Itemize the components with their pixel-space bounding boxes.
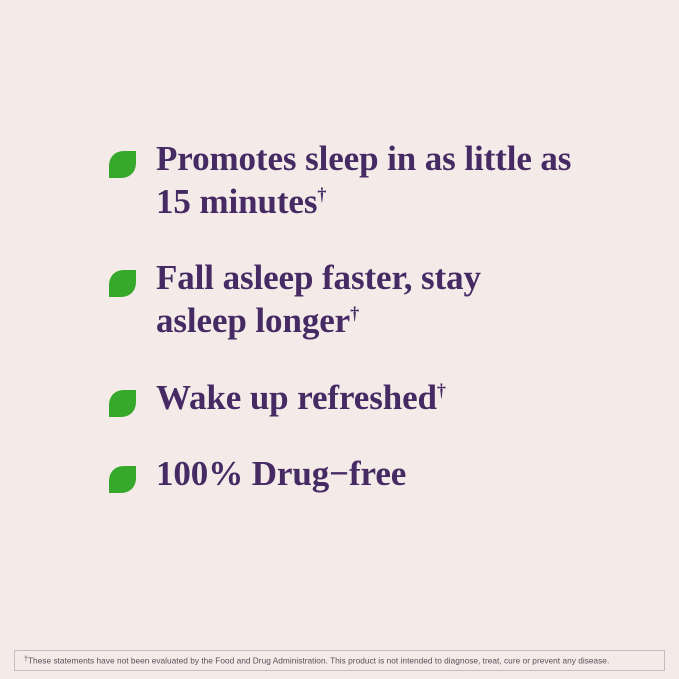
disclaimer-body: These statements have not been evaluated… <box>28 656 609 666</box>
benefits-list: Promotes sleep in as little as 15 minute… <box>108 138 628 496</box>
leaf-icon <box>108 269 137 298</box>
benefit-text: 100% Drug−free <box>156 453 406 496</box>
benefit-label: Fall asleep faster, stay asleep longer <box>156 258 481 340</box>
benefit-label: Wake up refreshed <box>156 378 437 417</box>
disclaimer-text: †These statements have not been evaluate… <box>24 656 609 665</box>
benefit-label: 100% Drug−free <box>156 454 406 493</box>
footnote-marker: † <box>437 380 446 400</box>
list-item: Promotes sleep in as little as 15 minute… <box>108 138 628 223</box>
list-item: Fall asleep faster, stay asleep longer† <box>108 257 628 342</box>
list-item: 100% Drug−free <box>108 453 628 496</box>
list-item: Wake up refreshed† <box>108 377 628 420</box>
benefit-label: Promotes sleep in as little as 15 minute… <box>156 139 571 221</box>
leaf-icon <box>108 389 137 418</box>
benefit-text: Fall asleep faster, stay asleep longer† <box>156 257 516 342</box>
leaf-icon <box>108 150 137 179</box>
benefit-text: Promotes sleep in as little as 15 minute… <box>156 138 576 223</box>
benefit-text: Wake up refreshed† <box>156 377 446 420</box>
footnote-marker: † <box>350 303 359 323</box>
leaf-icon <box>108 465 137 494</box>
disclaimer-box: †These statements have not been evaluate… <box>14 650 665 671</box>
footnote-marker: † <box>317 184 326 204</box>
product-benefits-graphic: Promotes sleep in as little as 15 minute… <box>0 0 679 679</box>
